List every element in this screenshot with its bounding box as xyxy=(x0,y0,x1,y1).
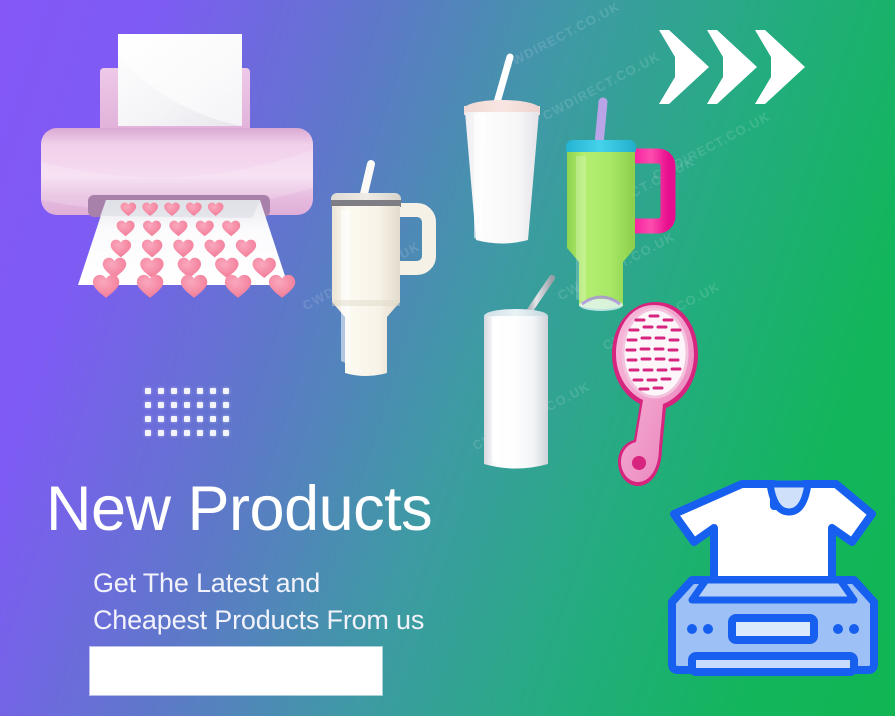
dot xyxy=(171,402,177,408)
dot xyxy=(197,388,203,394)
product-pink-hairbrush xyxy=(604,298,708,498)
dot-grid-decoration xyxy=(145,388,236,444)
chevron-right-icon xyxy=(751,28,813,106)
dot xyxy=(145,402,151,408)
subtitle-line-1: Get The Latest and xyxy=(93,565,424,602)
dot xyxy=(145,416,151,422)
dot xyxy=(184,430,190,436)
dot xyxy=(158,416,164,422)
dot xyxy=(158,402,164,408)
dot xyxy=(158,430,164,436)
product-green-tumbler xyxy=(560,92,692,310)
dot xyxy=(184,416,190,422)
product-silver-skinny-tumbler xyxy=(474,272,570,478)
page-title: New Products xyxy=(46,478,432,541)
page-subtitle: Get The Latest and Cheapest Products Fro… xyxy=(93,565,424,638)
dot xyxy=(197,430,203,436)
dot xyxy=(158,388,164,394)
dot xyxy=(197,416,203,422)
dot xyxy=(171,388,177,394)
product-sticker-printer xyxy=(38,32,328,294)
dot xyxy=(223,388,229,394)
dot xyxy=(210,402,216,408)
product-cream-tumbler xyxy=(327,162,439,378)
dot xyxy=(145,430,151,436)
dot xyxy=(223,430,229,436)
dot xyxy=(210,388,216,394)
dot xyxy=(145,388,151,394)
dot xyxy=(223,416,229,422)
dot xyxy=(223,402,229,408)
dot xyxy=(210,430,216,436)
dot xyxy=(210,416,216,422)
dot xyxy=(197,402,203,408)
product-tshirt-printer xyxy=(658,470,890,682)
dot xyxy=(171,430,177,436)
product-blush-cold-cup xyxy=(452,48,552,244)
dot xyxy=(184,388,190,394)
cta-input-box[interactable] xyxy=(90,647,382,695)
poster-canvas: CWDIRECT.CO.UK CWDIRECT.CO.UK CWDIRECT.C… xyxy=(0,0,895,716)
dot xyxy=(184,402,190,408)
subtitle-line-2: Cheapest Products From us xyxy=(93,602,424,639)
dot xyxy=(171,416,177,422)
